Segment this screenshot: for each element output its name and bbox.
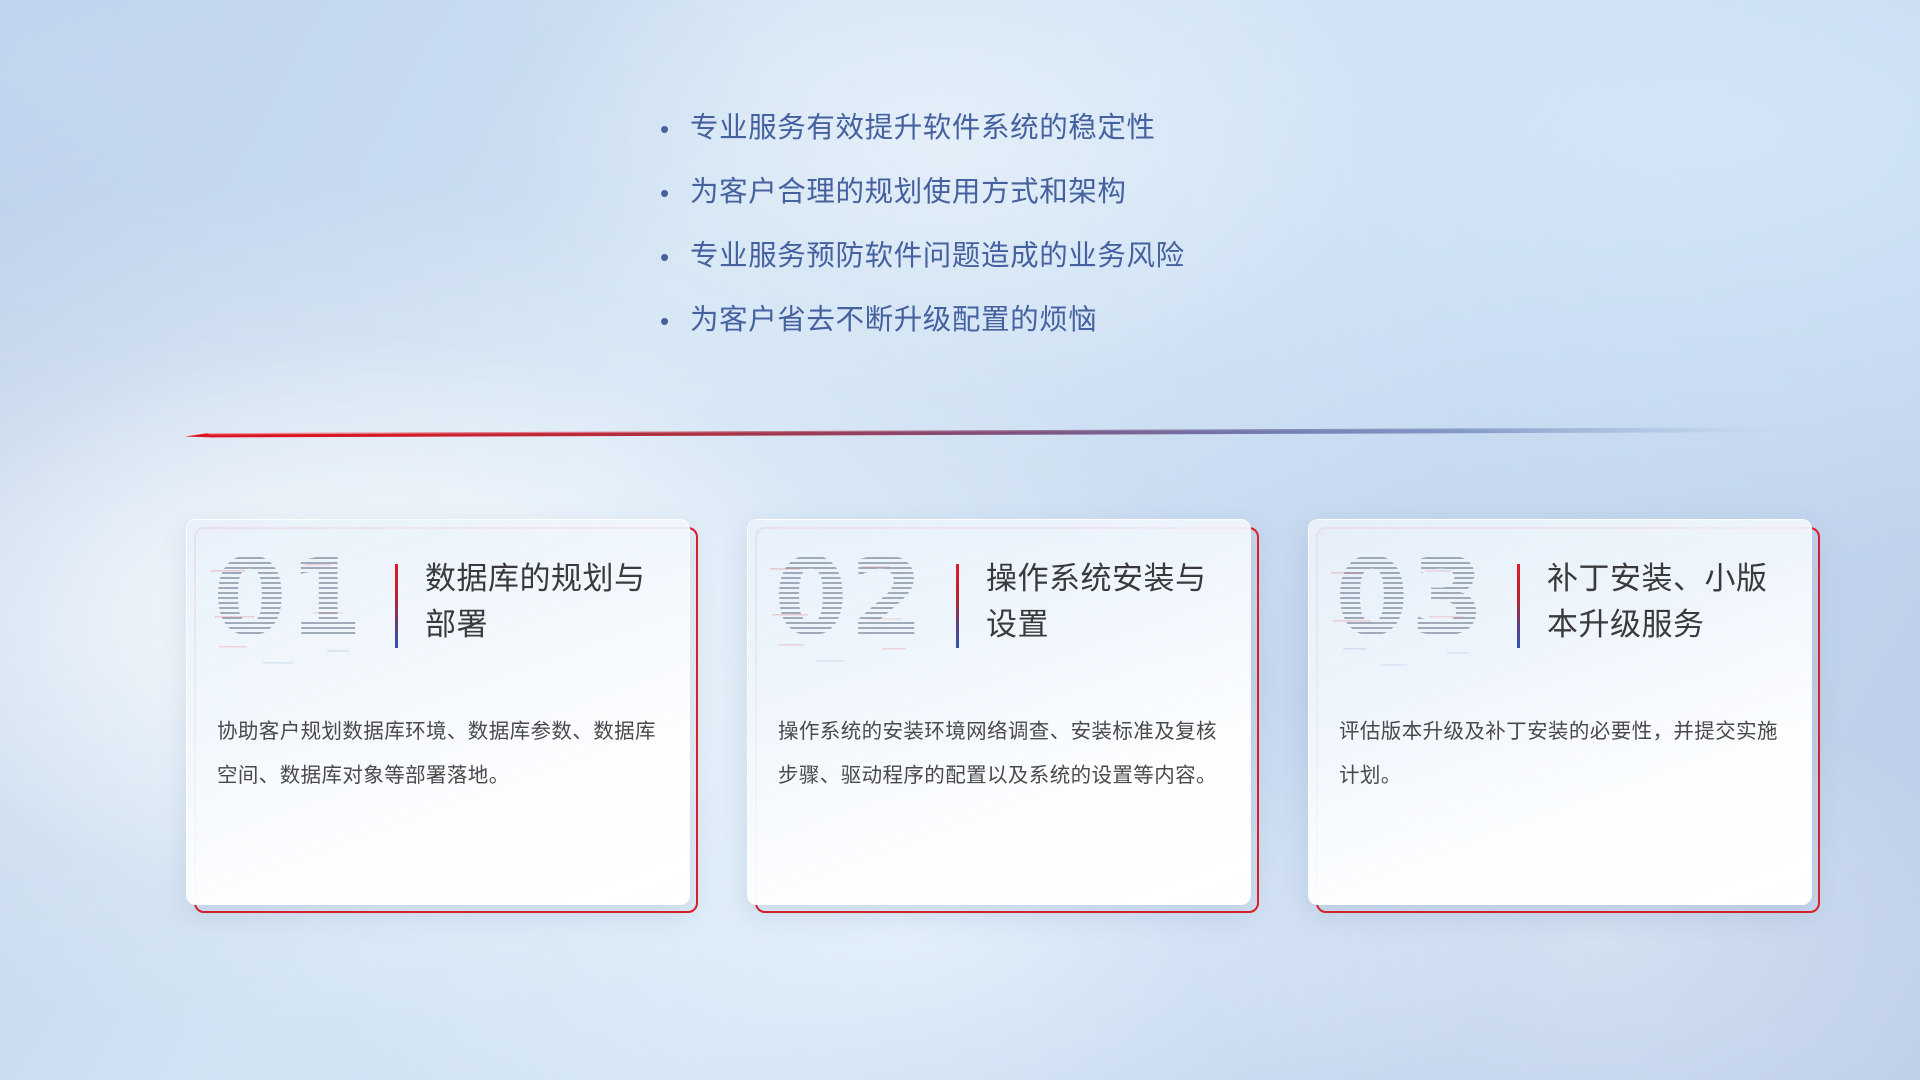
- list-item: • 专业服务预防软件问题造成的业务风险: [660, 238, 1420, 302]
- bullet-dot-icon: •: [660, 303, 690, 339]
- card-description: 协助客户规划数据库环境、数据库参数、数据库空间、数据库对象等部署落地。: [217, 710, 669, 798]
- card-divider-rule: [395, 564, 398, 648]
- card-body: 02 操作系统安装与设置 操作系统的安装环境网络调查、安装标准及复核步骤、驱动程…: [747, 519, 1251, 905]
- card-title: 数据库的规划与部署: [425, 556, 675, 648]
- card-title: 操作系统安装与设置: [986, 556, 1236, 648]
- slide-canvas: • 专业服务有效提升软件系统的稳定性 • 为客户合理的规划使用方式和架构 • 专…: [0, 0, 1920, 1080]
- card-divider-rule: [956, 564, 959, 648]
- bullet-dot-icon: •: [660, 239, 690, 275]
- card-description: 操作系统的安装环境网络调查、安装标准及复核步骤、驱动程序的配置以及系统的设置等内…: [778, 710, 1230, 798]
- list-item: • 专业服务有效提升软件系统的稳定性: [660, 110, 1420, 174]
- list-item: • 为客户合理的规划使用方式和架构: [660, 174, 1420, 238]
- card-body: 03 补丁安装、小版本升级服务 评估版本升级及补丁安装的必要性，并提交实施计划。: [1308, 519, 1812, 905]
- card-header: 01 数据库的规划与部署: [187, 520, 689, 692]
- section-divider: [185, 425, 1785, 439]
- bullet-dot-icon: •: [660, 111, 690, 147]
- list-item: • 为客户省去不断升级配置的烦恼: [660, 302, 1420, 366]
- card-title: 补丁安装、小版本升级服务: [1547, 556, 1797, 648]
- service-card[interactable]: 02 操作系统安装与设置 操作系统的安装环境网络调查、安装标准及复核步骤、驱动程…: [747, 519, 1251, 905]
- benefit-bullet-list: • 专业服务有效提升软件系统的稳定性 • 为客户合理的规划使用方式和架构 • 专…: [660, 110, 1420, 366]
- card-header: 03 补丁安装、小版本升级服务: [1309, 520, 1811, 692]
- bullet-dot-icon: •: [660, 175, 690, 211]
- card-number-watermark: 01: [213, 542, 365, 654]
- service-card[interactable]: 03 补丁安装、小版本升级服务 评估版本升级及补丁安装的必要性，并提交实施计划。: [1308, 519, 1812, 905]
- bullet-text: 为客户合理的规划使用方式和架构: [690, 174, 1127, 210]
- card-number-watermark: 03: [1335, 542, 1487, 654]
- service-card[interactable]: 01 数据库的规划与部署 协助客户规划数据库环境、数据库参数、数据库空间、数据库…: [186, 519, 690, 905]
- card-body: 01 数据库的规划与部署 协助客户规划数据库环境、数据库参数、数据库空间、数据库…: [186, 519, 690, 905]
- bullet-text: 专业服务有效提升软件系统的稳定性: [690, 110, 1156, 146]
- bullet-text: 专业服务预防软件问题造成的业务风险: [690, 238, 1185, 274]
- divider-line-icon: [185, 425, 1785, 439]
- bullet-text: 为客户省去不断升级配置的烦恼: [690, 302, 1097, 338]
- card-divider-rule: [1517, 564, 1520, 648]
- card-description: 评估版本升级及补丁安装的必要性，并提交实施计划。: [1339, 710, 1791, 798]
- card-number-watermark: 02: [774, 542, 926, 654]
- service-card-row: 01 数据库的规划与部署 协助客户规划数据库环境、数据库参数、数据库空间、数据库…: [186, 519, 1846, 905]
- card-header: 02 操作系统安装与设置: [748, 520, 1250, 692]
